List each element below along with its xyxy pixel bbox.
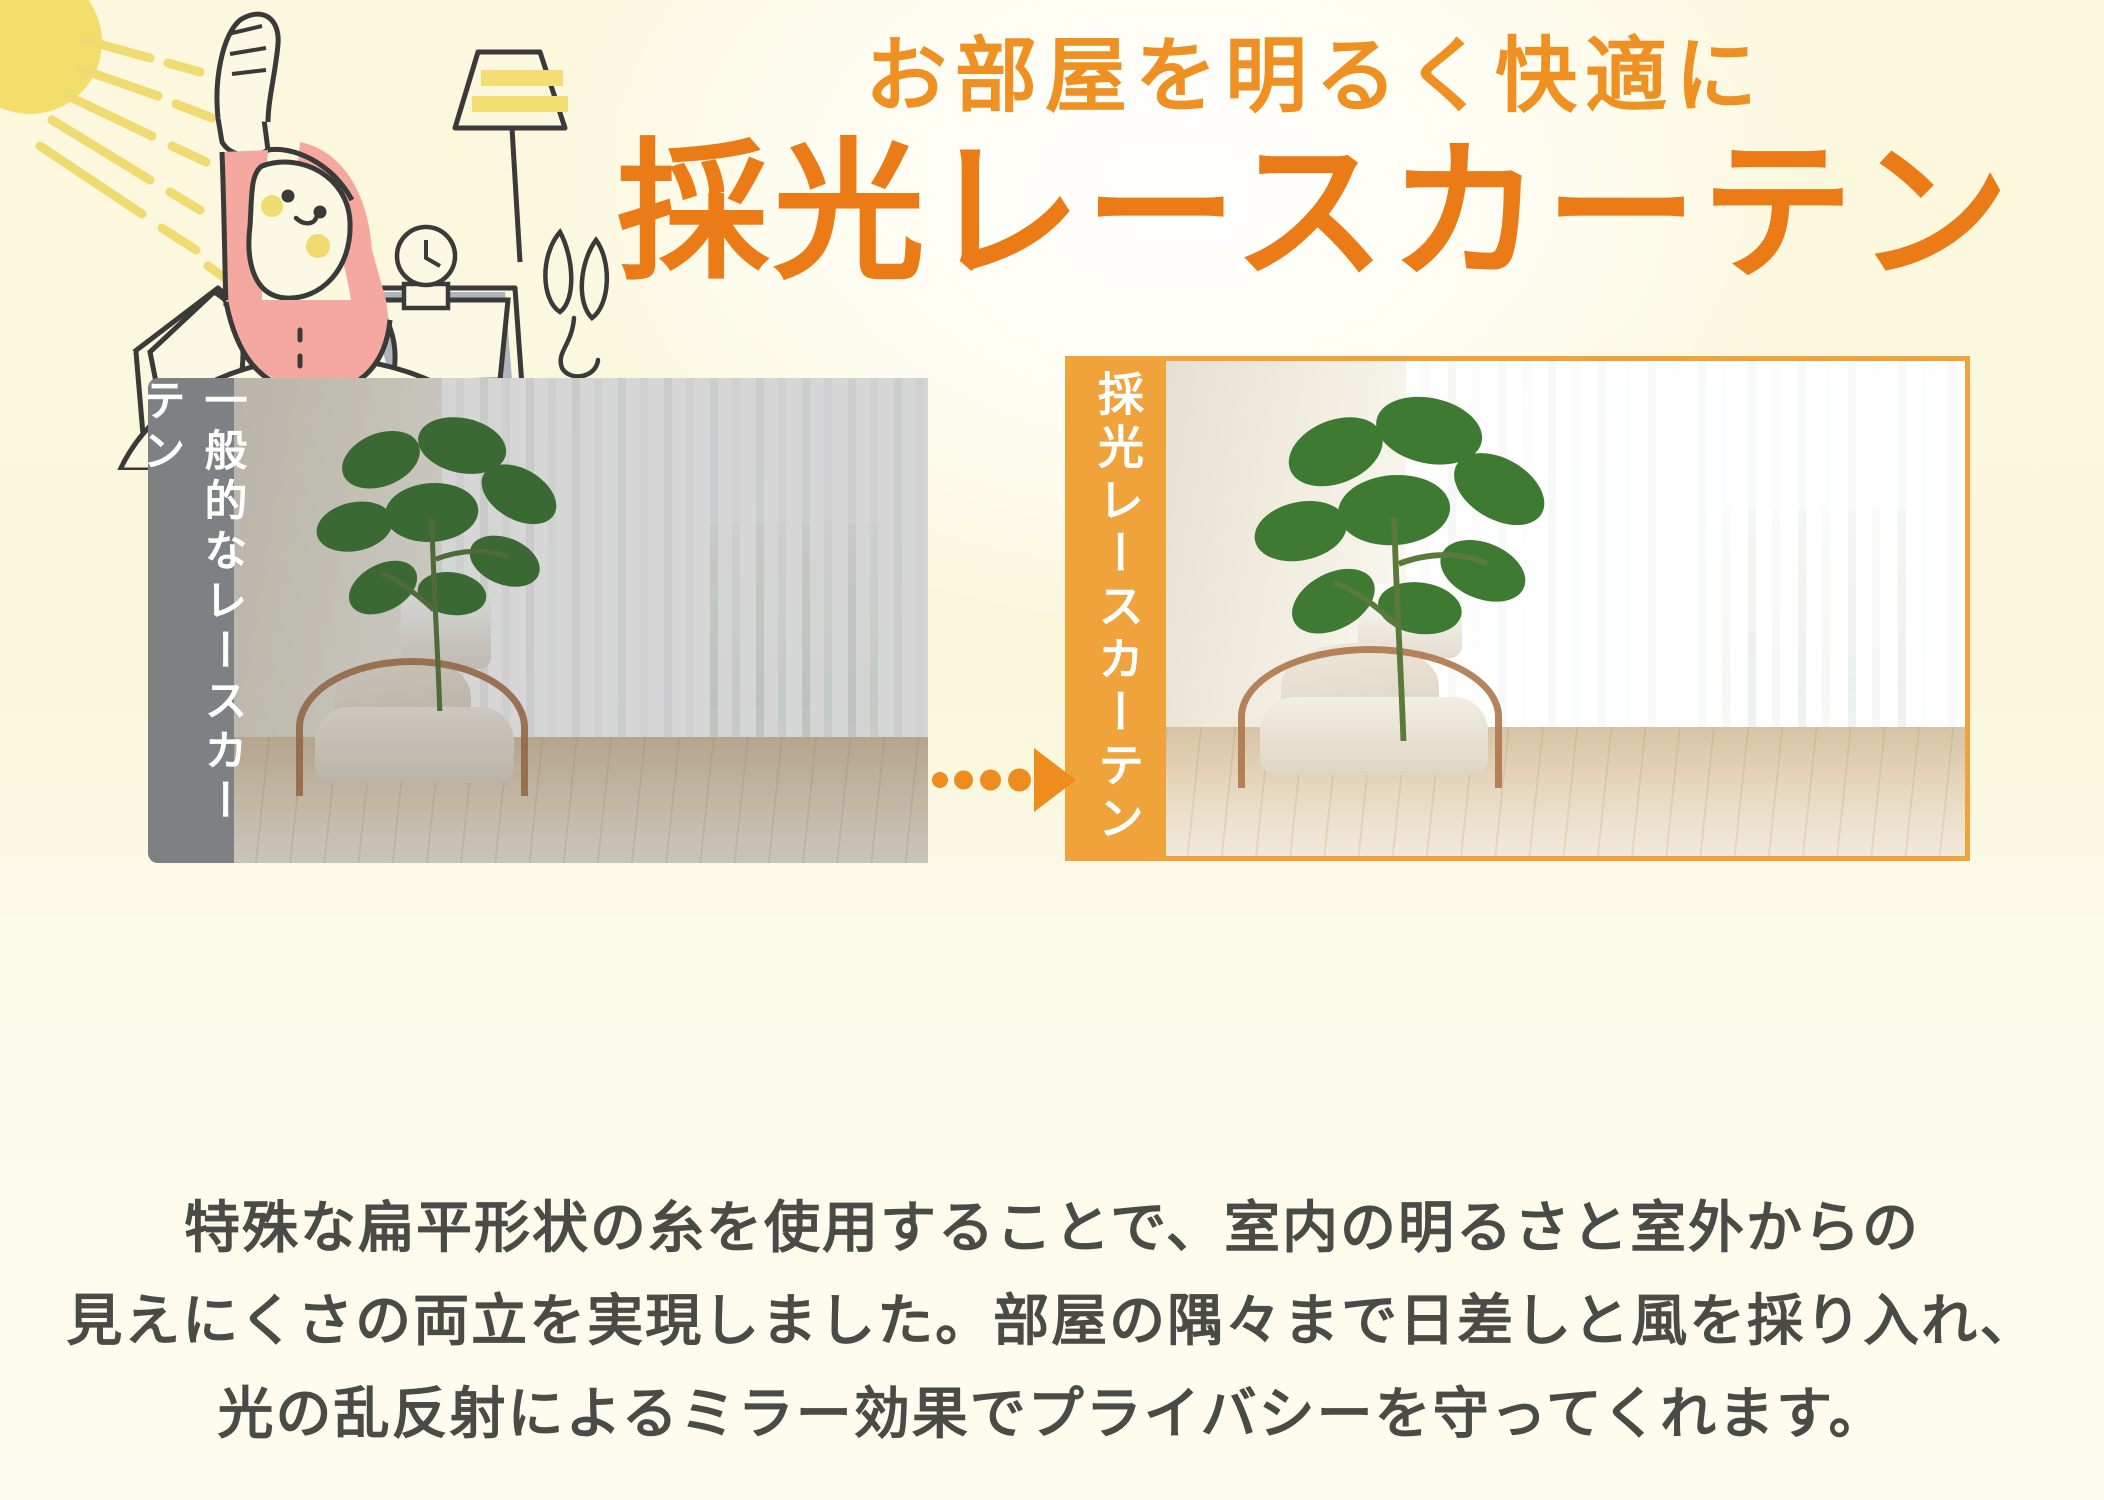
arrow-right-dots-icon xyxy=(930,735,1070,825)
promo-banner: お部屋を明るく快適に 採光レースカーテン xyxy=(0,0,2104,1500)
alarm-clock-icon xyxy=(397,227,455,308)
before-label: 一般的なレースカーテン xyxy=(148,378,234,863)
headline-block: お部屋を明るく快適に 採光レースカーテン xyxy=(600,34,2030,292)
headline-main: 採光レースカーテン xyxy=(600,134,2030,292)
before-panel: 一般的なレースカーテン xyxy=(148,378,928,863)
description-line: 特殊な扁平形状の糸を使用することで、室内の明るさと室外からの xyxy=(0,1190,2104,1265)
plant-photo xyxy=(310,407,574,708)
plant-photo xyxy=(1254,391,1558,698)
description-line: 光の乱反射によるミラー効果でプライバシーを守ってくれます。 xyxy=(0,1376,2104,1451)
plant-icon xyxy=(545,232,606,376)
headline-sub: お部屋を明るく快適に xyxy=(600,34,2030,120)
description-line: 見えにくさの両立を実現しました。部屋の隅々まで日差しと風を採り入れ、 xyxy=(0,1283,2104,1358)
after-panel: 採光レースカーテン xyxy=(1065,356,1970,861)
description-block: 特殊な扁平形状の糸を使用することで、室内の明るさと室外からの 見えにくさの両立を… xyxy=(0,1190,2104,1469)
before-photo xyxy=(234,378,928,863)
after-label: 採光レースカーテン xyxy=(1070,361,1166,856)
after-photo xyxy=(1166,361,1965,856)
sun-icon xyxy=(0,0,102,114)
